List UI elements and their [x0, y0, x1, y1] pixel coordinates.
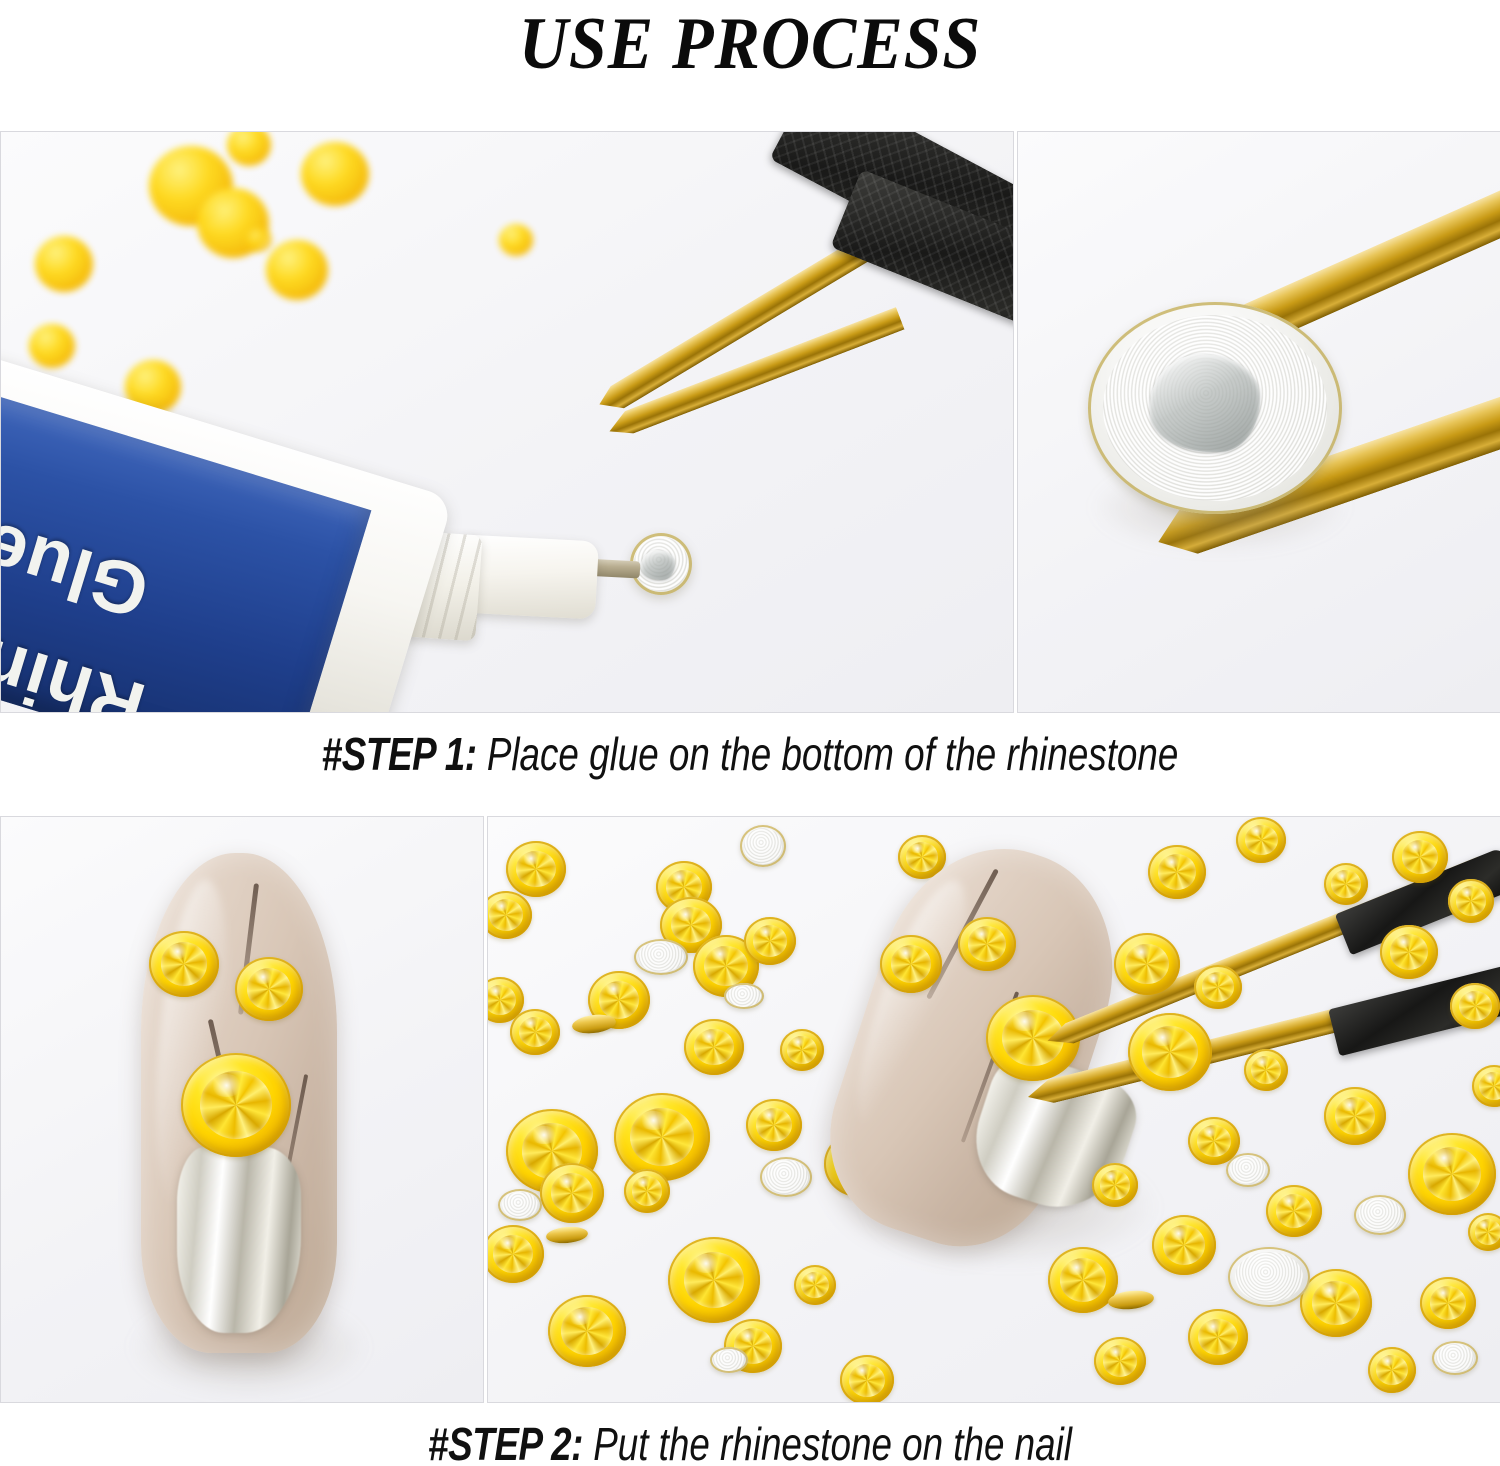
rhinestone: [149, 931, 219, 997]
rhinestone: [487, 891, 532, 939]
rhinestone: [1448, 879, 1494, 923]
blurred-rhinestone: [227, 131, 271, 166]
step-2-label: #STEP 2:: [428, 1418, 583, 1466]
rhinestone: [1380, 925, 1438, 979]
rhinestone: [181, 1053, 291, 1157]
rhinestone-back: [740, 825, 786, 867]
rhinestone: [1148, 845, 1206, 899]
rhinestone: [510, 1009, 560, 1055]
blurred-rhinestone: [35, 236, 93, 292]
infographic-page: USE PROCESS: [0, 0, 1500, 1466]
step-1-label: #STEP 1:: [322, 728, 477, 780]
rhinestone: [1236, 817, 1286, 863]
finished-nail-photo: [0, 816, 484, 1403]
blurred-rhinestone: [246, 228, 272, 252]
rhinestone: [840, 1355, 894, 1403]
page-title: USE PROCESS: [60, 2, 1440, 86]
rhinestone: [548, 1295, 626, 1367]
rhinestone: [624, 1169, 670, 1213]
rhinestone: [1324, 863, 1368, 905]
rhinestone: [746, 1099, 802, 1151]
rhinestone-edge: [571, 1012, 617, 1035]
rhinestone: [1266, 1185, 1322, 1237]
rhinestone: [1408, 1133, 1496, 1215]
blurred-rhinestone: [499, 224, 533, 256]
step-2-text: Put the rhinestone on the nail: [583, 1418, 1072, 1466]
rhinestone-back: [1226, 1153, 1270, 1187]
rhinestone-back: [1228, 1247, 1310, 1307]
rhinestone: [487, 1225, 544, 1283]
glue-droplet: [641, 550, 675, 580]
rhinestone-back: [634, 939, 688, 975]
rhinestone-back: [760, 1157, 812, 1197]
rhinestone: [1450, 983, 1500, 1029]
rhinestone-back: [724, 983, 764, 1009]
rhinestone: [506, 841, 566, 897]
rhinestone: [1244, 1049, 1288, 1091]
step-1-text: Place glue on the bottom of the rhinesto…: [477, 728, 1179, 780]
rhinestone: [684, 1019, 744, 1075]
rhinestone: [1420, 1277, 1476, 1329]
rhinestone-back: [498, 1189, 542, 1221]
rhinestone: [668, 1237, 760, 1323]
rhinestone-back: [1432, 1341, 1478, 1375]
glue-droplet: [1150, 354, 1260, 452]
rhinestone: [1368, 1347, 1416, 1393]
rhinestone: [1300, 1269, 1372, 1337]
rhinestone: [1152, 1215, 1216, 1275]
silver-foil-accent: [177, 1147, 301, 1333]
rhinestone: [1392, 831, 1448, 883]
blurred-rhinestone: [301, 142, 369, 206]
step-2-photo-row: [0, 816, 1500, 1403]
rhinestone: [540, 1163, 604, 1223]
rhinestone-back: [710, 1347, 748, 1373]
rhinestone: [1472, 1065, 1500, 1107]
blurred-rhinestone: [29, 324, 75, 368]
rhinestone: [780, 1029, 824, 1071]
rhinestone-edge: [545, 1225, 588, 1245]
rhinestone: [1194, 965, 1242, 1009]
rhinestone: [1468, 1213, 1500, 1251]
rhinestone: [1114, 933, 1180, 995]
rhinestone: [1188, 1309, 1248, 1365]
blurred-rhinestone: [266, 240, 328, 300]
glued-rhinestone-closeup-photo: [1017, 131, 1500, 713]
rhinestone-back: [1354, 1195, 1406, 1235]
rhinestone: [1092, 1163, 1138, 1207]
step-1-photo-row: Glue Rhin: [0, 131, 1500, 713]
step-1-caption: #STEP 1: Place glue on the bottom of the…: [150, 727, 1350, 781]
glue-application-photo: Glue Rhin: [0, 131, 1014, 713]
rhinestone: [1094, 1337, 1146, 1385]
rhinestone: [1324, 1087, 1386, 1145]
rhinestone-on-nail: [880, 935, 942, 993]
rhinestone: [614, 1093, 710, 1181]
applying-rhinestone-photo: [487, 816, 1500, 1403]
rhinestone: [794, 1265, 836, 1305]
rhinestone-on-nail: [958, 917, 1016, 971]
rhinestone: [1128, 1013, 1212, 1091]
step-2-caption: #STEP 2: Put the rhinestone on the nail: [150, 1417, 1350, 1466]
rhinestone: [744, 917, 796, 965]
rhinestone: [235, 957, 303, 1021]
